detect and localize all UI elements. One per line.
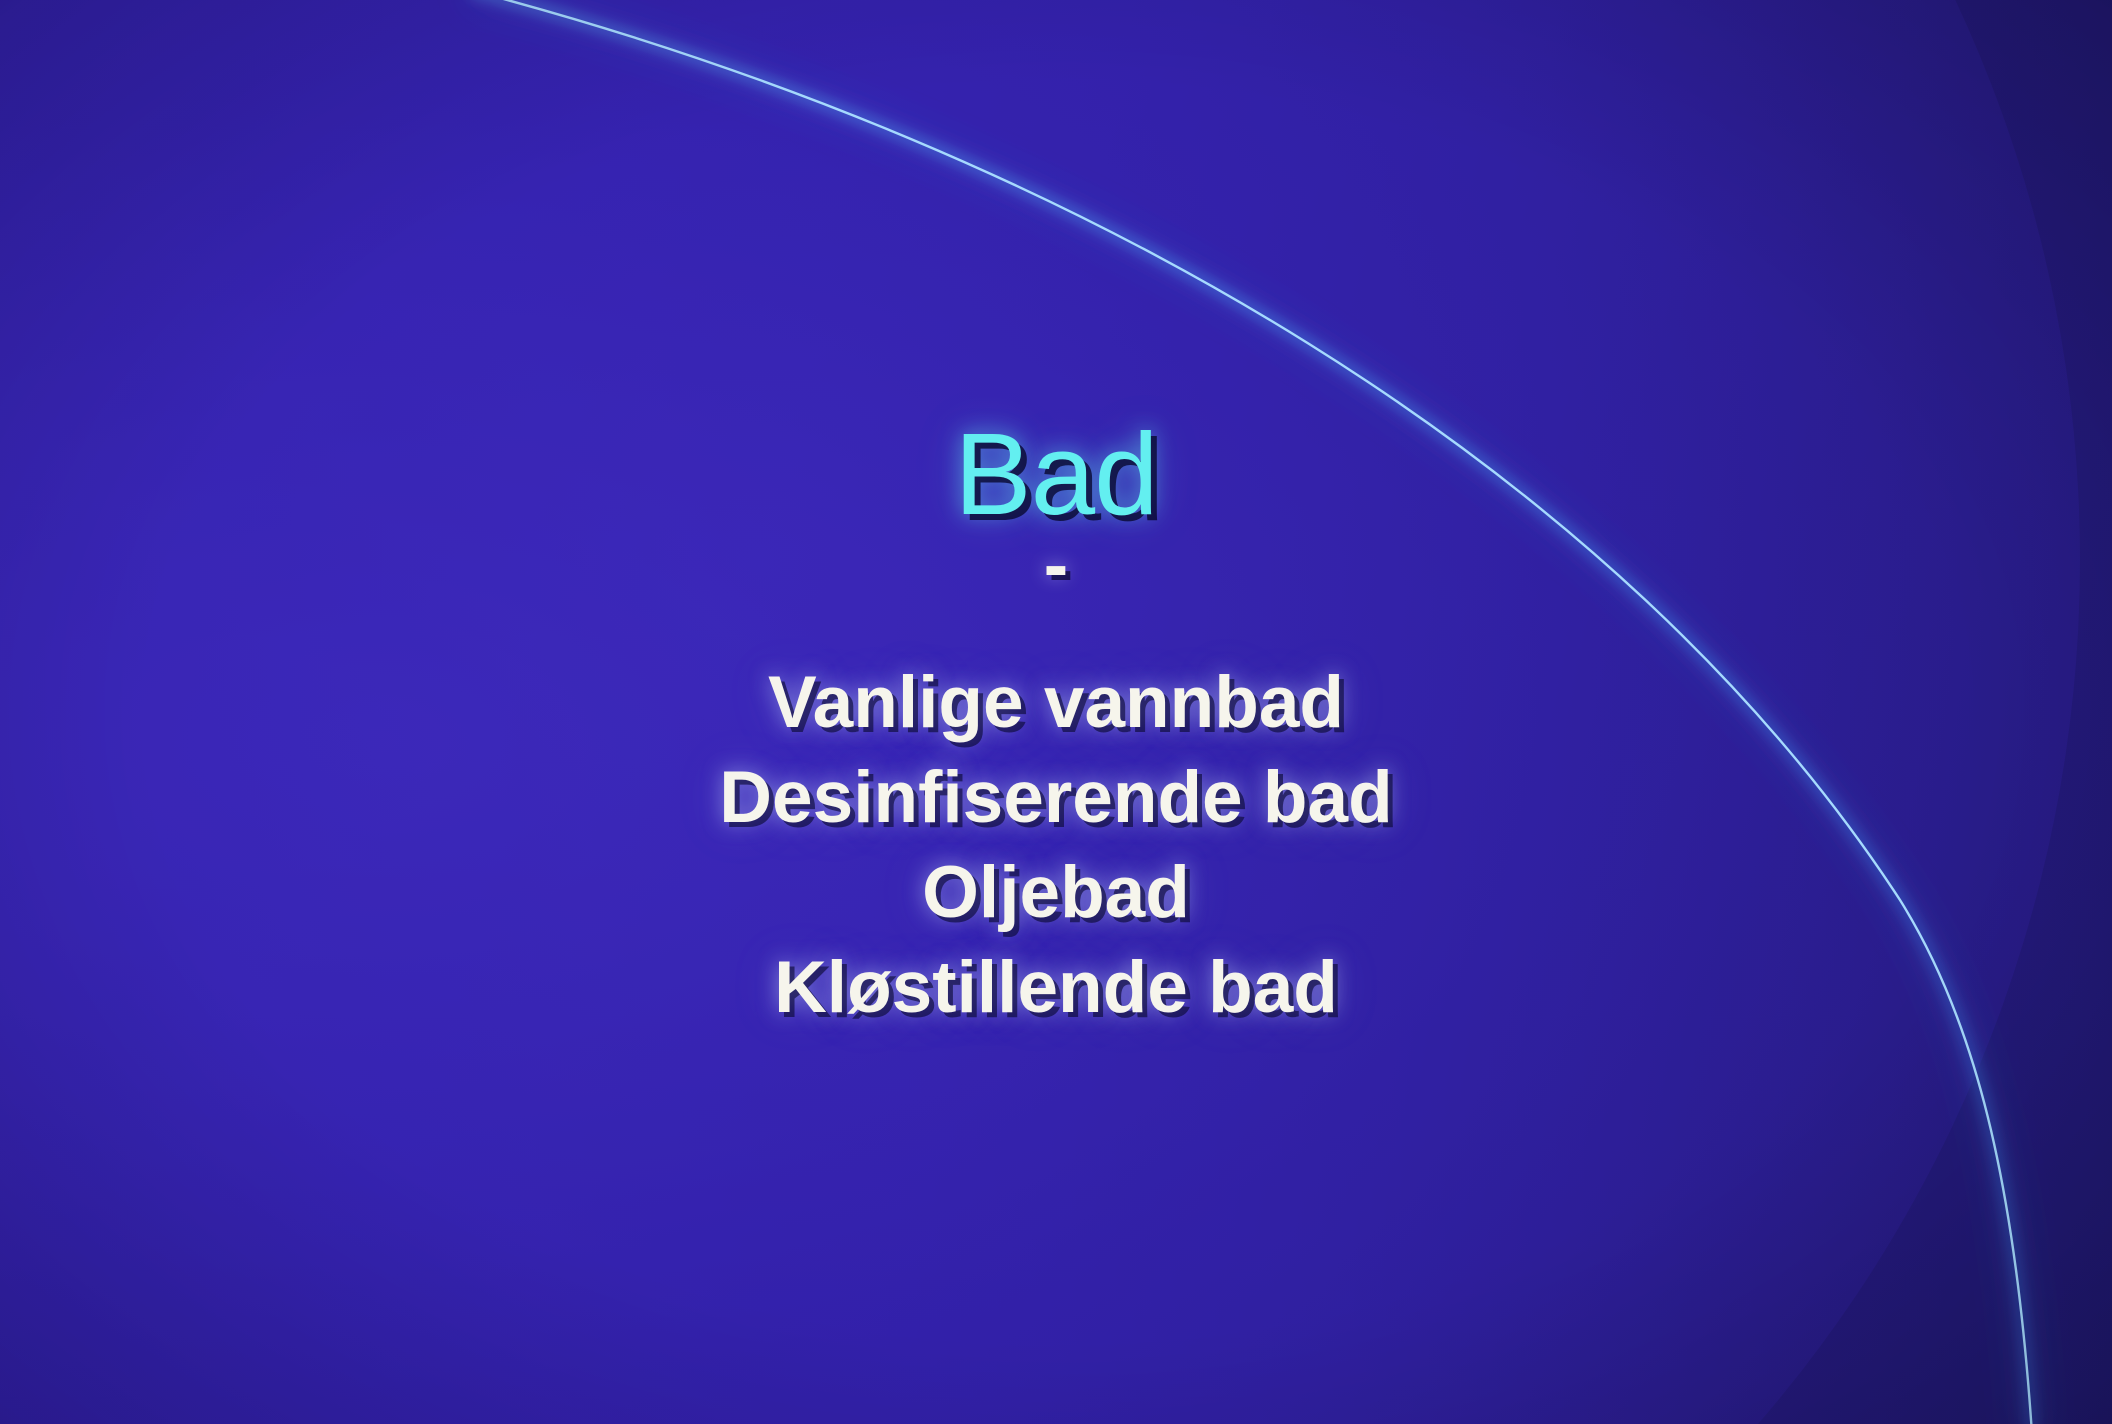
list-item: Desinfiserende bad [0, 750, 2112, 845]
presentation-slide: Bad - Vanlige vannbad Desinfiserende bad… [0, 0, 2112, 1424]
title-divider: - [0, 528, 2112, 602]
list-item: Kløstillende bad [0, 940, 2112, 1035]
page-title: Bad [0, 416, 2112, 532]
list-item: Oljebad [0, 845, 2112, 940]
bullet-list: Vanlige vannbad Desinfiserende bad Oljeb… [0, 655, 2112, 1035]
slide-content: Bad - Vanlige vannbad Desinfiserende bad… [0, 0, 2112, 1424]
list-item: Vanlige vannbad [0, 655, 2112, 750]
